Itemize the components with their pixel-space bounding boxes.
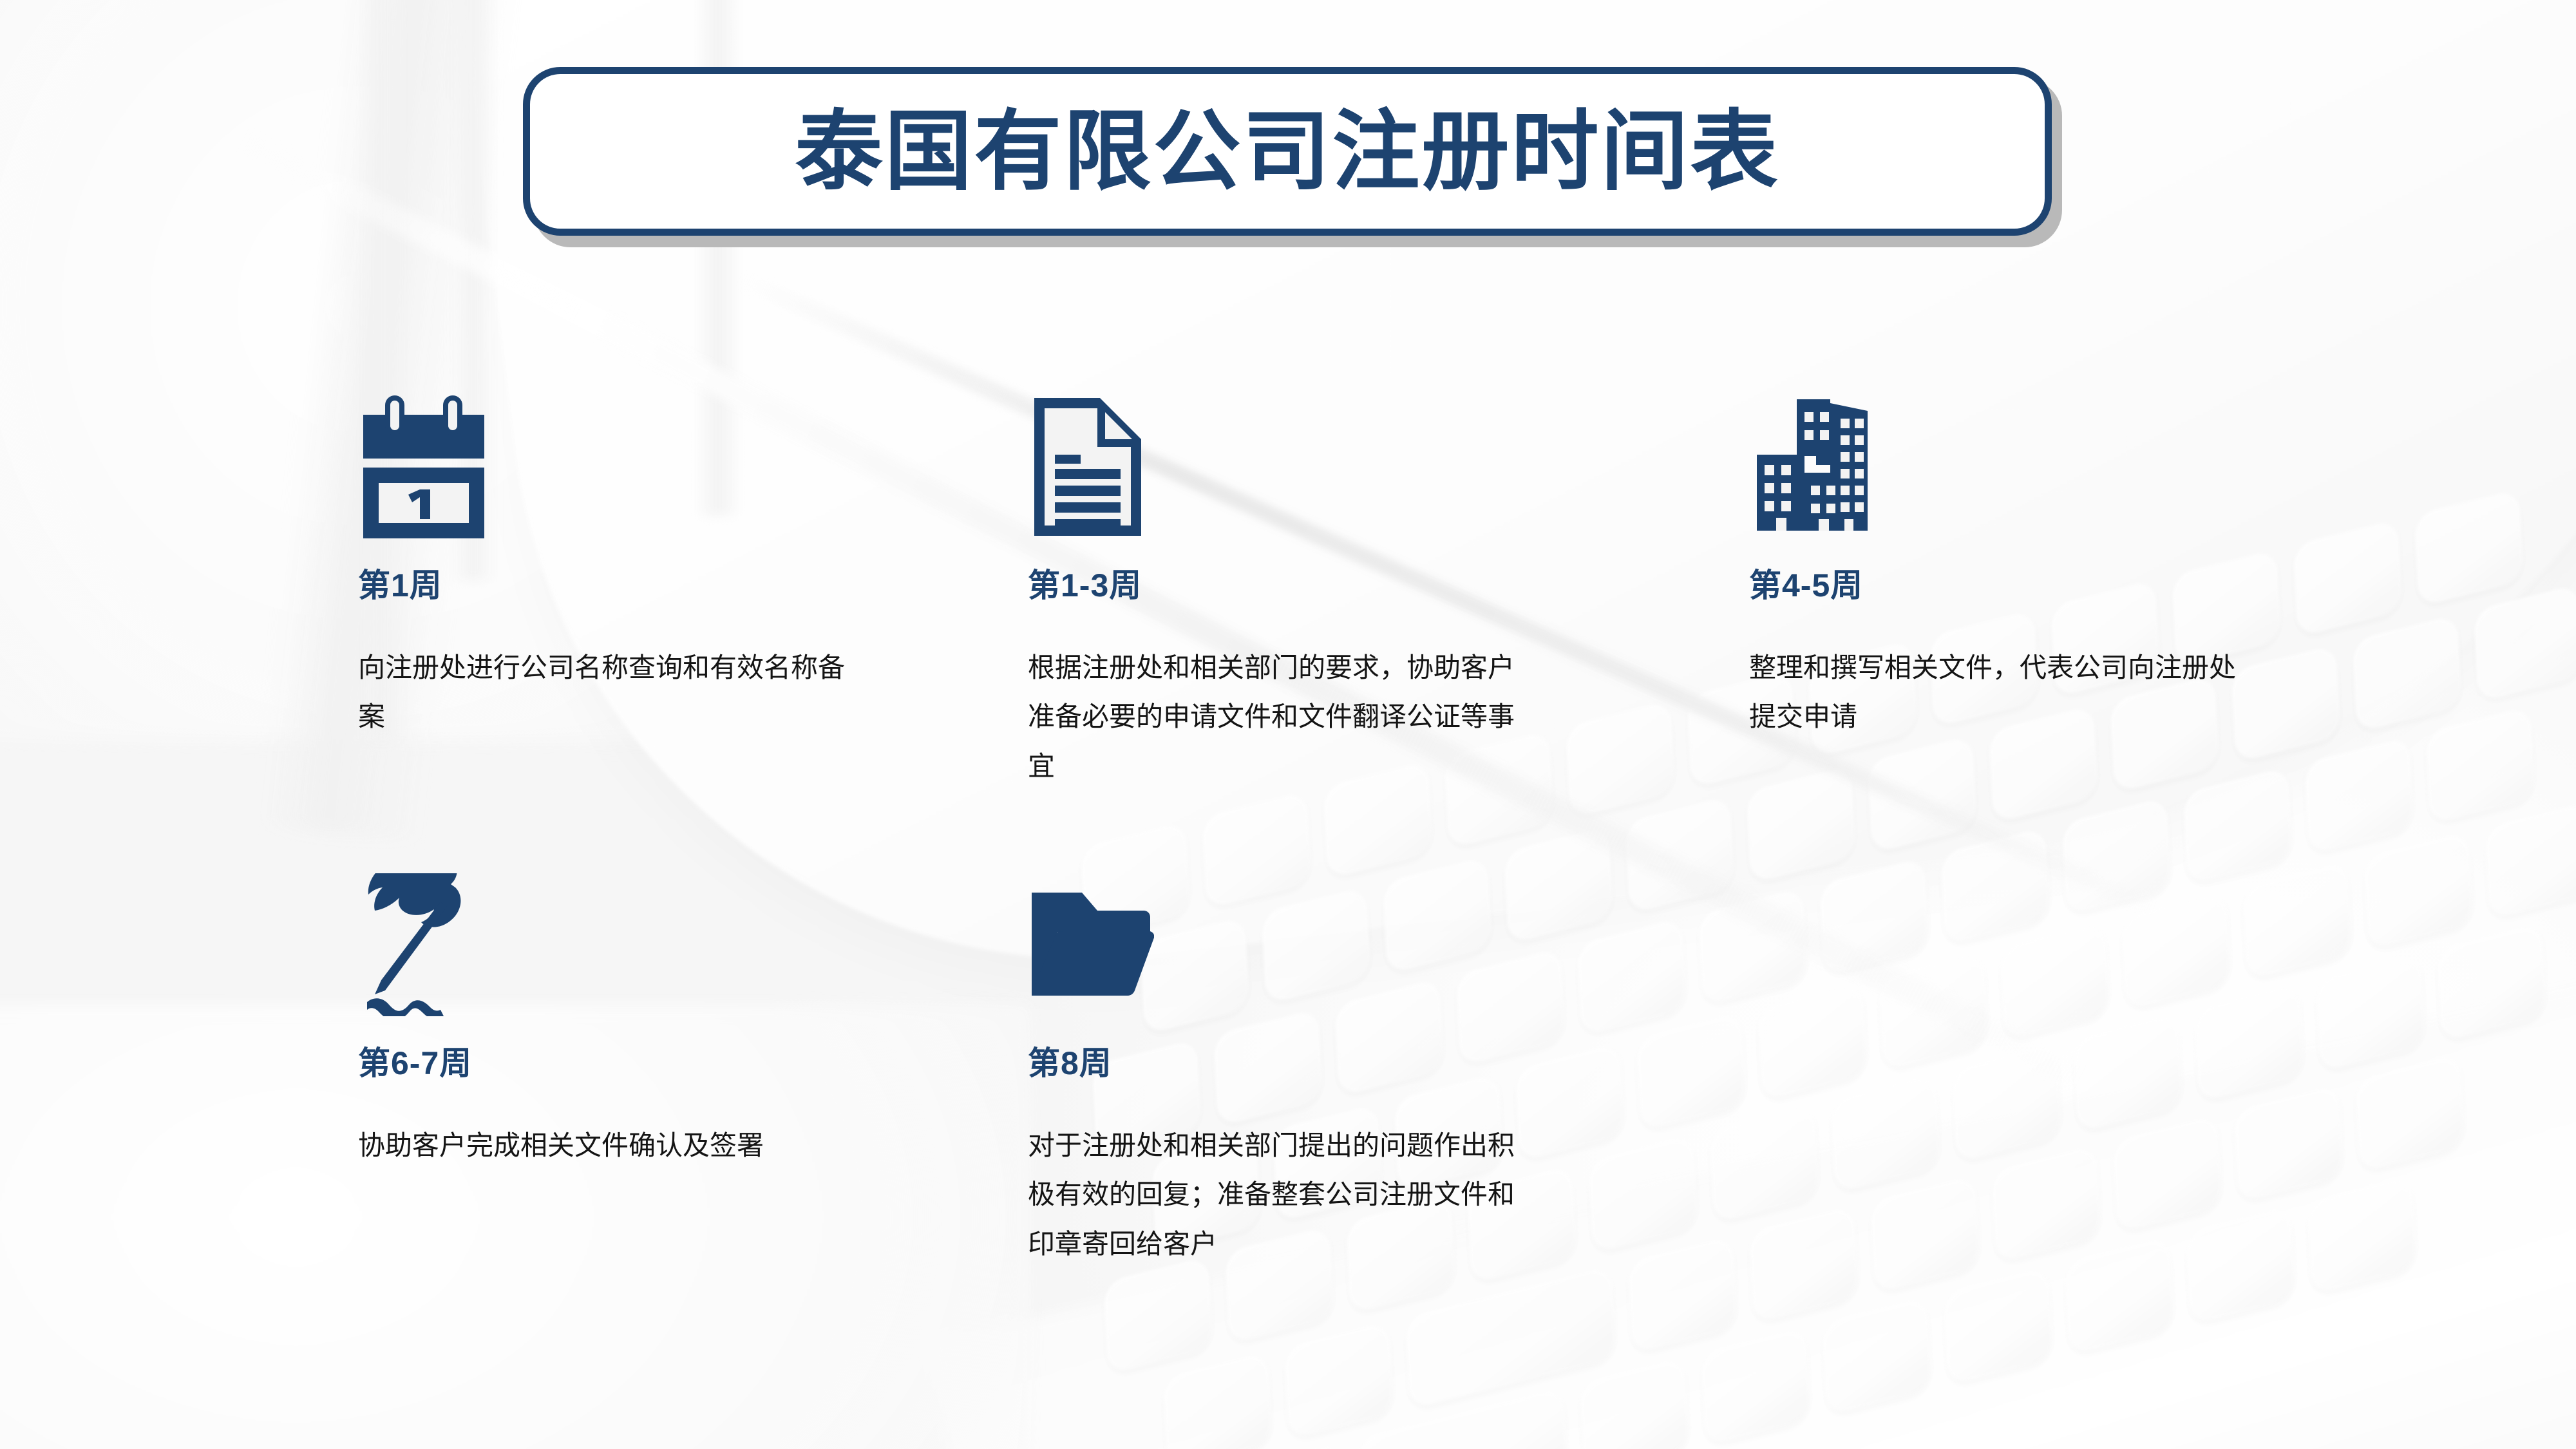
timeline-step-4: 第6-7周 协助客户完成相关文件确认及签署 bbox=[358, 867, 886, 1170]
slide-canvas: 泰国有限公司注册时间表 bbox=[0, 0, 2576, 1449]
step-title: 第8周 bbox=[1028, 1046, 1556, 1081]
timeline-step-2: 第1-3周 根据注册处和相关部门的要求，协助客户准备必要的申请文件和文件翻译公证… bbox=[1028, 389, 1556, 791]
step-title: 第6-7周 bbox=[358, 1046, 886, 1081]
quill-pen-icon bbox=[358, 867, 886, 1016]
open-folder-icon bbox=[1028, 867, 1556, 1016]
step-description: 协助客户完成相关文件确认及签署 bbox=[358, 1121, 867, 1170]
step-title: 第4-5周 bbox=[1749, 568, 2277, 603]
step-title: 第1-3周 bbox=[1028, 568, 1556, 603]
step-description: 根据注册处和相关部门的要求，协助客户准备必要的申请文件和文件翻译公证等事宜 bbox=[1028, 643, 1537, 791]
step-description: 整理和撰写相关文件，代表公司向注册处提交申请 bbox=[1749, 643, 2258, 742]
timeline-step-5: 第8周 对于注册处和相关部门提出的问题作出积极有效的回复；准备整套公司注册文件和… bbox=[1028, 867, 1556, 1269]
step-description: 向注册处进行公司名称查询和有效名称备案 bbox=[358, 643, 867, 742]
buildings-icon bbox=[1749, 389, 2277, 538]
calendar-icon bbox=[358, 389, 886, 538]
document-icon bbox=[1028, 389, 1556, 538]
timeline-step-1: 第1周 向注册处进行公司名称查询和有效名称备案 bbox=[358, 389, 886, 742]
timeline-grid: 第1周 向注册处进行公司名称查询和有效名称备案 bbox=[0, 0, 2576, 1449]
timeline-step-3: 第4-5周 整理和撰写相关文件，代表公司向注册处提交申请 bbox=[1749, 389, 2277, 742]
step-description: 对于注册处和相关部门提出的问题作出积极有效的回复；准备整套公司注册文件和印章寄回… bbox=[1028, 1121, 1537, 1269]
step-title: 第1周 bbox=[358, 568, 886, 603]
